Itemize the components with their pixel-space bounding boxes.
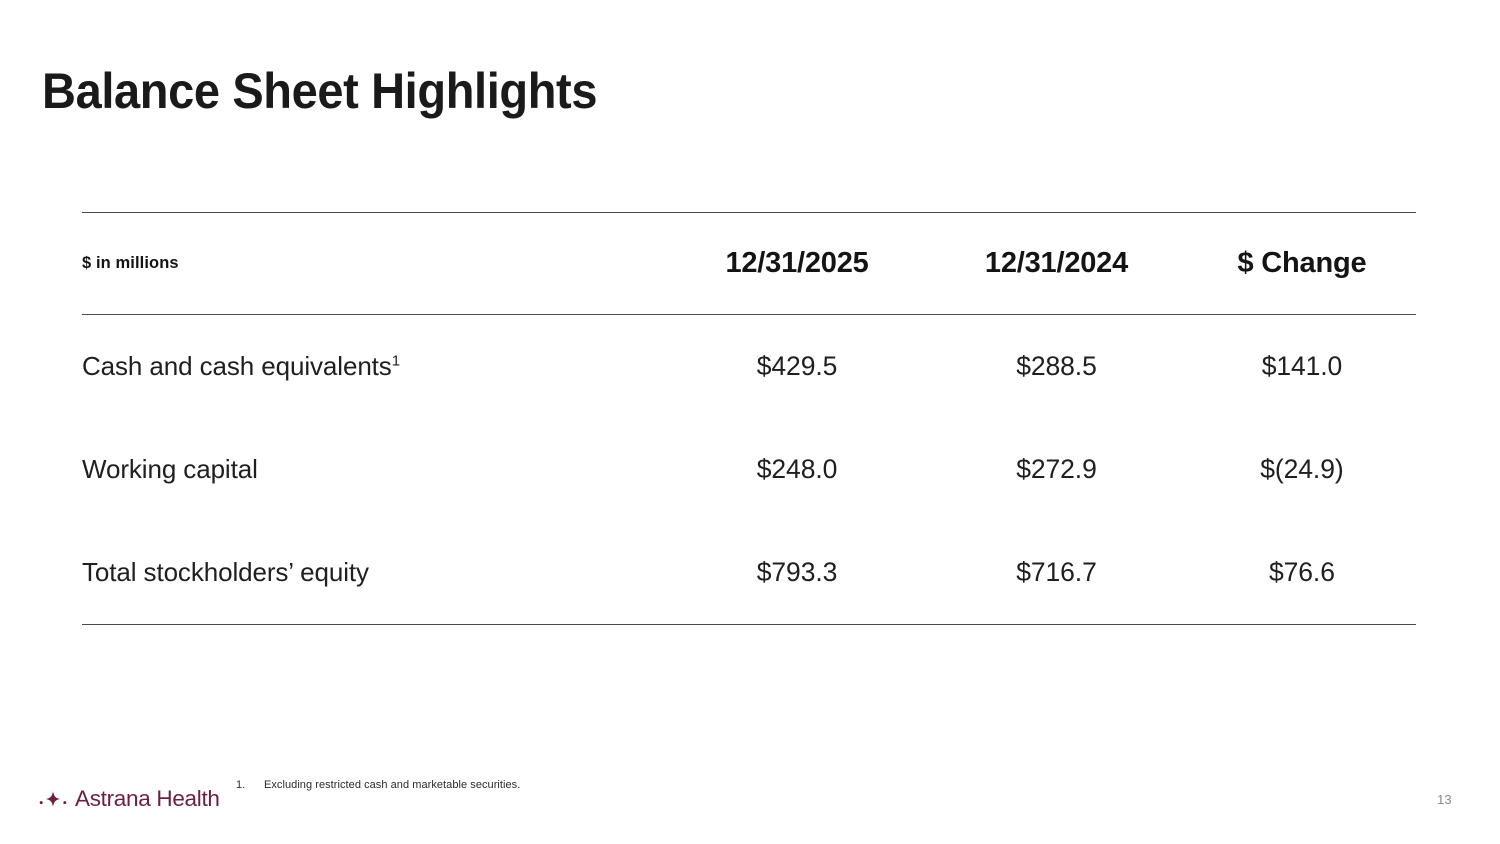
astrana-health-logo: Astrana Health bbox=[38, 786, 220, 812]
row-value-0: $429.5 bbox=[669, 315, 925, 419]
row-value-2: $76.6 bbox=[1188, 521, 1416, 625]
row-value-2: $141.0 bbox=[1188, 315, 1416, 419]
column-header-0: 12/31/2025 bbox=[669, 213, 925, 315]
balance-sheet-table: $ in millions 12/31/2025 12/31/2024 $ Ch… bbox=[82, 212, 1416, 625]
row-value-0: $793.3 bbox=[669, 521, 925, 625]
row-value-1: $716.7 bbox=[925, 521, 1188, 625]
row-value-2: $(24.9) bbox=[1188, 418, 1416, 521]
page-title: Balance Sheet Highlights bbox=[42, 62, 597, 121]
footnote: 1. Excluding restricted cash and marketa… bbox=[236, 779, 520, 791]
sparkle-star-icon bbox=[38, 788, 68, 810]
table-header: $ in millions 12/31/2025 12/31/2024 $ Ch… bbox=[82, 213, 1416, 315]
column-header-2: $ Change bbox=[1188, 213, 1416, 315]
logo-wordmark: Astrana Health bbox=[75, 786, 220, 812]
units-label: $ in millions bbox=[82, 213, 669, 315]
row-label: Total stockholders’ equity bbox=[82, 521, 669, 625]
table-body: Cash and cash equivalents1 $429.5 $288.5… bbox=[82, 315, 1416, 625]
row-label-text: Total stockholders’ equity bbox=[82, 557, 369, 587]
footnote-text: Excluding restricted cash and marketable… bbox=[264, 779, 520, 791]
row-label-text: Working capital bbox=[82, 454, 258, 484]
footnote-marker: 1 bbox=[392, 352, 400, 369]
table-row: Working capital $248.0 $272.9 $(24.9) bbox=[82, 418, 1416, 521]
header-row: $ in millions 12/31/2025 12/31/2024 $ Ch… bbox=[82, 213, 1416, 315]
slide-canvas: Balance Sheet Highlights $ in millions 1… bbox=[0, 0, 1500, 844]
row-value-0: $248.0 bbox=[669, 418, 925, 521]
row-value-1: $272.9 bbox=[925, 418, 1188, 521]
table-row: Total stockholders’ equity $793.3 $716.7… bbox=[82, 521, 1416, 625]
footnote-number: 1. bbox=[236, 779, 264, 791]
row-value-1: $288.5 bbox=[925, 315, 1188, 419]
table-row: Cash and cash equivalents1 $429.5 $288.5… bbox=[82, 315, 1416, 419]
row-label: Working capital bbox=[82, 418, 669, 521]
table: $ in millions 12/31/2025 12/31/2024 $ Ch… bbox=[82, 212, 1416, 625]
row-label-text: Cash and cash equivalents bbox=[82, 351, 392, 381]
page-number: 13 bbox=[1437, 792, 1452, 807]
column-header-1: 12/31/2024 bbox=[925, 213, 1188, 315]
row-label: Cash and cash equivalents1 bbox=[82, 315, 669, 419]
